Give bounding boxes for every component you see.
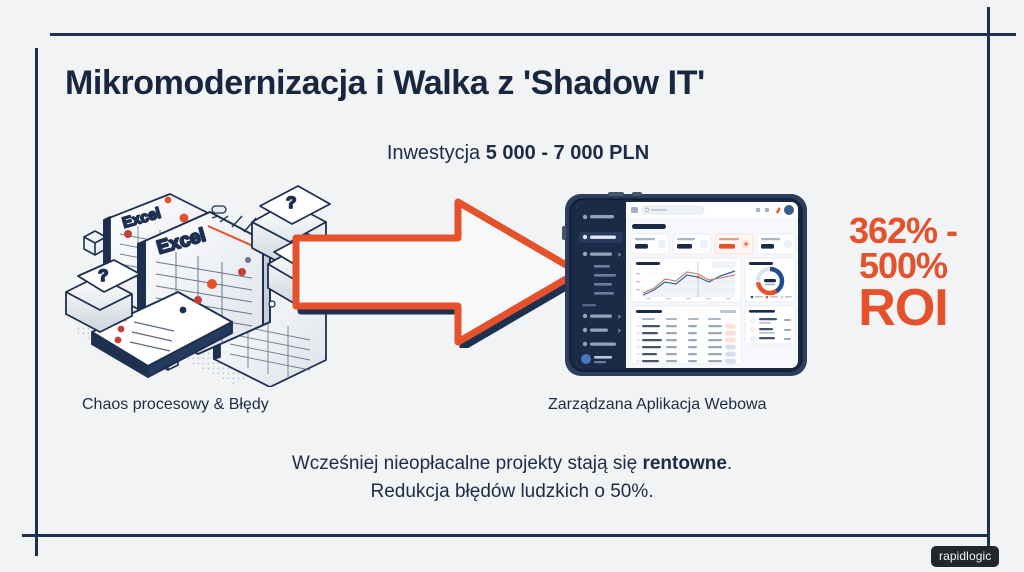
footer-line-1-prefix: Wcześniej nieopłacalne projekty stają si… bbox=[292, 453, 643, 474]
avatar bbox=[784, 205, 794, 215]
tablet-button bbox=[608, 192, 624, 196]
cube-icon bbox=[84, 231, 106, 255]
investment-label: Inwestycja bbox=[387, 142, 486, 164]
status-badge bbox=[725, 338, 736, 343]
menu-icon bbox=[631, 207, 638, 213]
avatar bbox=[581, 354, 591, 364]
line-chart-card bbox=[631, 258, 741, 302]
list-title bbox=[749, 310, 775, 313]
arrow-body bbox=[296, 202, 578, 342]
table-action bbox=[720, 310, 736, 313]
footer-line-1-suffix: . bbox=[727, 453, 732, 474]
roi-line-2: 500% bbox=[828, 249, 978, 284]
status-badge bbox=[725, 352, 736, 357]
brand-logo: rapidlogic bbox=[931, 546, 999, 567]
dashboard-title bbox=[632, 224, 666, 229]
tablet-button bbox=[632, 192, 642, 196]
footer-text: Wcześniej nieopłacalne projekty stają si… bbox=[0, 450, 1024, 505]
donut-chart-card bbox=[745, 258, 795, 302]
caption-after: Zarządzana Aplikacja Webowa bbox=[548, 396, 767, 414]
footer-line-1-bold: rentowne bbox=[642, 453, 726, 474]
investment-subtitle: Inwestycja 5 000 - 7 000 PLN bbox=[0, 142, 1024, 165]
roi-line-1: 362% - bbox=[828, 214, 978, 249]
status-badge bbox=[725, 331, 736, 336]
side-list-card bbox=[745, 306, 795, 344]
slide-canvas: Mikromodernizacja i Walka z 'Shadow IT' … bbox=[0, 0, 1024, 572]
roi-highlight: 362% - 500% ROI bbox=[828, 214, 978, 334]
caption-before: Chaos procesowy & Błędy bbox=[82, 396, 269, 414]
footer-line-1: Wcześniej nieopłacalne projekty stają si… bbox=[0, 450, 1024, 478]
tablet-dashboard-mockup bbox=[562, 192, 810, 378]
tablet-button bbox=[562, 226, 566, 240]
question-mark: ? bbox=[98, 266, 108, 285]
frame-line-bottom bbox=[22, 534, 988, 537]
donut-center-value bbox=[764, 279, 776, 282]
chart-filter bbox=[712, 262, 736, 267]
tablet-screen bbox=[576, 202, 798, 368]
investment-amount: 5 000 - 7 000 PLN bbox=[486, 142, 649, 164]
transformation-arrow bbox=[292, 196, 584, 348]
page-title: Mikromodernizacja i Walka z 'Shadow IT' bbox=[65, 64, 705, 103]
status-badge bbox=[725, 324, 736, 329]
chart-title bbox=[636, 262, 660, 265]
table-card bbox=[631, 306, 741, 364]
frame-line-top bbox=[50, 33, 1016, 36]
status-badge bbox=[725, 345, 736, 350]
footer-line-2: Redukcja błędów ludzkich o 50%. bbox=[0, 478, 1024, 506]
roi-label: ROI bbox=[828, 284, 978, 334]
chart-title bbox=[749, 262, 773, 265]
table-title bbox=[636, 310, 662, 313]
status-badge bbox=[725, 359, 736, 364]
